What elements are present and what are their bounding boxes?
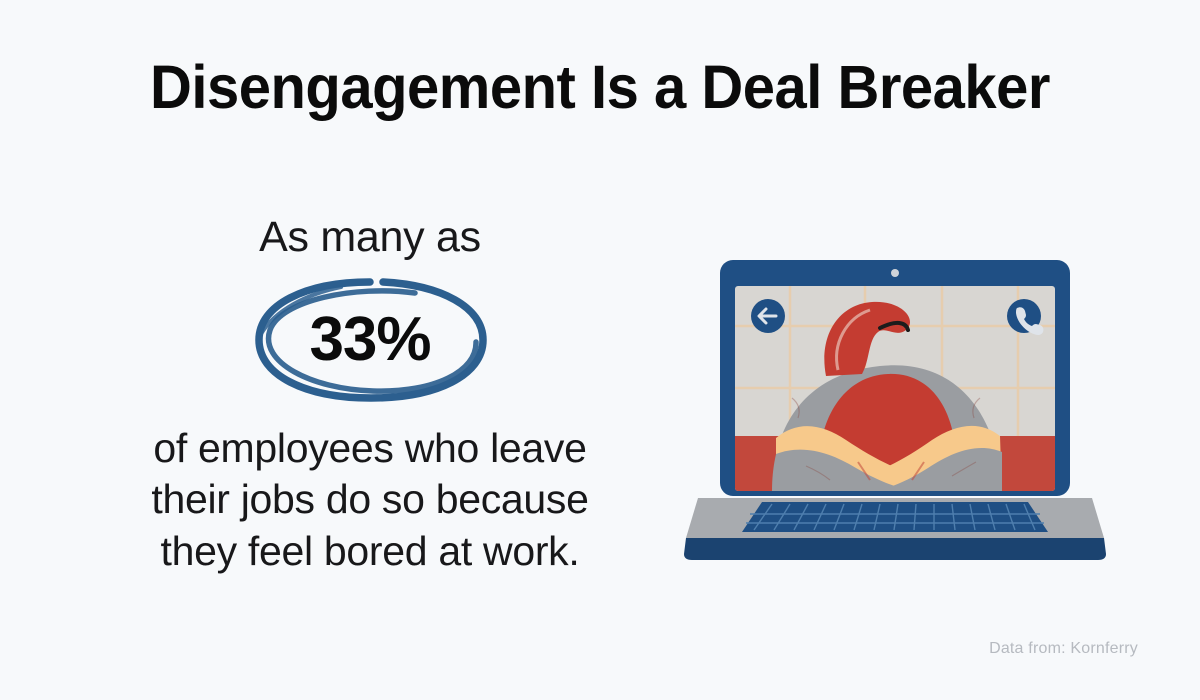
laptop-front-edge <box>684 538 1106 560</box>
data-source-attribution: Data from: Kornferry <box>989 640 1138 658</box>
infographic-canvas: Disengagement Is a Deal Breaker As many … <box>0 0 1200 700</box>
highlighted-statistic: 33% <box>245 272 495 407</box>
stat-body-line-2: their jobs do so because <box>80 474 660 525</box>
laptop-illustration <box>680 248 1110 568</box>
statistic-block: As many as 33% of employees who leave th… <box>80 215 660 577</box>
stat-value: 33% <box>245 272 495 407</box>
stat-body-text: of employees who leave their jobs do so … <box>80 423 660 577</box>
page-title: Disengagement Is a Deal Breaker <box>30 52 1170 122</box>
stat-body-line-3: they feel bored at work. <box>80 526 660 577</box>
webcam-icon <box>891 269 899 277</box>
stat-lead-in-text: As many as <box>80 215 660 260</box>
stat-body-line-1: of employees who leave <box>80 423 660 474</box>
back-arrow-icon[interactable] <box>751 299 785 333</box>
